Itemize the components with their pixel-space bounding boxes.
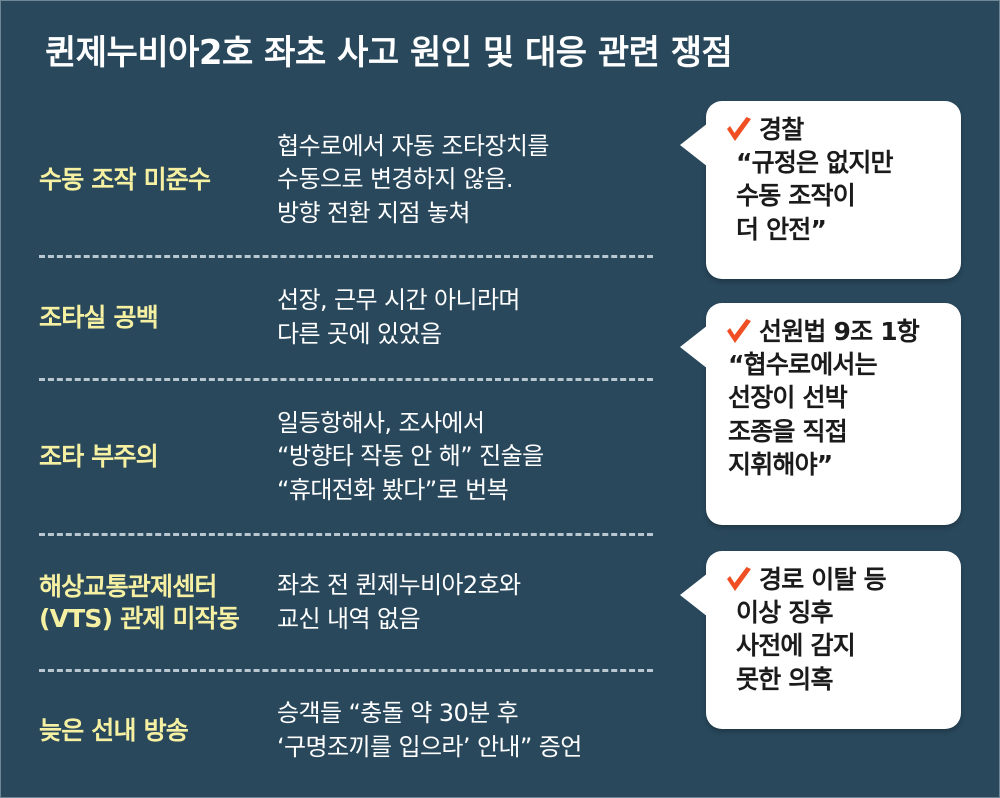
infographic-root: 퀸제누비아2호 좌초 사고 원인 및 대응 관련 쟁점 수동 조작 미준수 협수… <box>0 0 1000 798</box>
issue-body: 좌초 전 퀸제누비아2호와 교신 내역 없음 <box>271 569 675 636</box>
issue-body: 승객들 “충돌 약 30분 후 ‘구명조끼를 입으라’ 안내” 증언 <box>271 697 675 764</box>
check-icon <box>724 116 754 146</box>
issue-label-line: 조타실 공백 <box>39 302 271 334</box>
callout-quote: “규정은 없지만 수동 조작이 더 안전” <box>736 146 943 246</box>
callout-bubble: 경로 이탈 등 이상 징후 사전에 감지 못한 의혹 <box>706 551 961 729</box>
issue-body-line: 협수로에서 자동 조타장치를 <box>277 130 675 164</box>
page-title: 퀸제누비아2호 좌초 사고 원인 및 대응 관련 쟁점 <box>45 29 945 77</box>
issue-body: 협수로에서 자동 조타장치를 수동으로 변경하지 않음. 방향 전환 지점 놓쳐 <box>271 130 675 231</box>
issue-label: 조타실 공백 <box>39 302 271 334</box>
callout-tail <box>680 123 708 167</box>
issue-body: 일등항해사, 조사에서 “방향타 작동 안 해” 진술을 “휴대전화 봤다”로 … <box>271 407 675 508</box>
issue-body-line: 교신 내역 없음 <box>277 603 675 637</box>
issue-body-line: “방향타 작동 안 해” 진술을 <box>277 440 675 474</box>
callout-quote-line: “규정은 없지만 <box>736 146 943 179</box>
callout-tail <box>680 573 708 617</box>
callout-quote-line: 지휘해야” <box>728 448 943 481</box>
issue-body-line: 선장, 근무 시간 아니라며 <box>277 284 675 318</box>
callout-source: 선원법 9조 1항 <box>759 317 919 348</box>
callout-quote-line: 조종을 직접 <box>728 415 943 448</box>
issue-row: 조타 부주의 일등항해사, 조사에서 “방향타 작동 안 해” 진술을 “휴대전… <box>1 381 691 533</box>
issues-list: 수동 조작 미준수 협수로에서 자동 조타장치를 수동으로 변경하지 않음. 방… <box>1 105 691 790</box>
issue-label-line: 수동 조작 미준수 <box>39 164 271 196</box>
callout-bubble: 선원법 9조 1항 “협수로에서는 선장이 선박 조종을 직접 지휘해야” <box>706 303 961 525</box>
callout-header-line: 경찰 <box>724 115 943 146</box>
callout-quote-line: 더 안전” <box>736 213 943 246</box>
issue-label: 해상교통관제센터 (VTS) 관제 미작동 <box>39 571 271 635</box>
issue-body-line: “휴대전화 봤다”로 번복 <box>277 474 675 508</box>
check-icon <box>724 566 754 596</box>
issue-row: 늦은 선내 방송 승객들 “충돌 약 30분 후 ‘구명조끼를 입으라’ 안내”… <box>1 672 691 790</box>
issue-label-line: 조타 부주의 <box>39 441 271 473</box>
issue-body-line: 다른 곳에 있었음 <box>277 318 675 352</box>
issue-body-line: 좌초 전 퀸제누비아2호와 <box>277 569 675 603</box>
issue-body-line: 방향 전환 지점 놓쳐 <box>277 197 675 231</box>
issue-row: 수동 조작 미준수 협수로에서 자동 조타장치를 수동으로 변경하지 않음. 방… <box>1 105 691 255</box>
callout-header-line: 경로 이탈 등 <box>724 565 943 596</box>
callout-quote-line: 선장이 선박 <box>728 381 943 414</box>
callout-quote-line: “협수로에서는 <box>728 348 943 381</box>
callout-quote: 이상 징후 사전에 감지 못한 의혹 <box>736 596 943 696</box>
callout-quote-line: 사전에 감지 <box>736 629 943 662</box>
issue-body: 선장, 근무 시간 아니라며 다른 곳에 있었음 <box>271 284 675 351</box>
issue-body-line: 승객들 “충돌 약 30분 후 <box>277 697 675 731</box>
issue-label-line: (VTS) 관제 미작동 <box>39 603 271 635</box>
issue-label: 수동 조작 미준수 <box>39 164 271 196</box>
callout-tail <box>680 325 708 369</box>
callout-source: 경로 이탈 등 <box>759 565 886 596</box>
callout-bubble: 경찰 “규정은 없지만 수동 조작이 더 안전” <box>706 101 961 279</box>
issue-row: 해상교통관제센터 (VTS) 관제 미작동 좌초 전 퀸제누비아2호와 교신 내… <box>1 536 691 669</box>
issue-label: 늦은 선내 방송 <box>39 715 271 747</box>
issue-body-line: 일등항해사, 조사에서 <box>277 407 675 441</box>
issue-row: 조타실 공백 선장, 근무 시간 아니라며 다른 곳에 있었음 <box>1 258 691 378</box>
issue-body-line: 수동으로 변경하지 않음. <box>277 163 675 197</box>
callout-source: 경찰 <box>759 115 803 146</box>
callout-quote-line: 수동 조작이 <box>736 179 943 212</box>
check-icon <box>724 318 754 348</box>
callout-header-line: 선원법 9조 1항 <box>724 317 943 348</box>
callout-quote: “협수로에서는 선장이 선박 조종을 직접 지휘해야” <box>728 348 943 481</box>
issue-label-line: 늦은 선내 방송 <box>39 715 271 747</box>
issue-label-line: 해상교통관제센터 <box>39 571 271 603</box>
callout-quote-line: 이상 징후 <box>736 596 943 629</box>
issue-body-line: ‘구명조끼를 입으라’ 안내” 증언 <box>277 731 675 765</box>
issue-label: 조타 부주의 <box>39 441 271 473</box>
callout-quote-line: 못한 의혹 <box>736 663 943 696</box>
